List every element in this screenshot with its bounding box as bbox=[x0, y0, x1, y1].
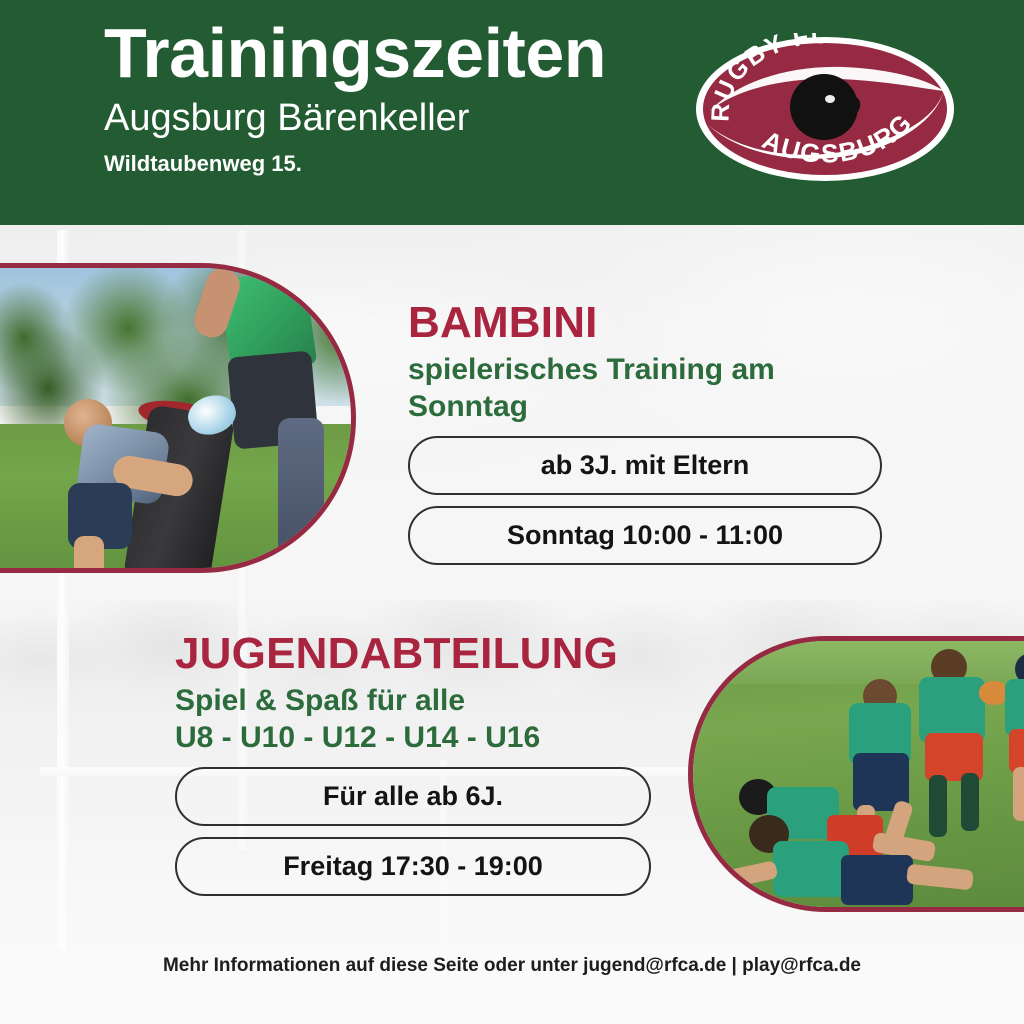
jugend-subtitle: Spiel & Spaß für alle bbox=[175, 682, 651, 719]
page-title: Trainingszeiten bbox=[104, 18, 606, 89]
bambini-heading: BAMBINI bbox=[408, 300, 882, 347]
poster: Trainingszeiten Augsburg Bärenkeller Wil… bbox=[0, 0, 1024, 1024]
jugend-photo bbox=[688, 636, 1024, 912]
section-bambini: BAMBINI spielerisches Training am Sonnta… bbox=[408, 300, 882, 565]
jugend-age-groups: U8 - U10 - U12 - U14 - U16 bbox=[175, 719, 651, 756]
coach-leg bbox=[278, 418, 324, 568]
bambini-photo bbox=[0, 263, 356, 573]
jugend-age-pill[interactable]: Für alle ab 6J. bbox=[175, 767, 651, 826]
club-logo: RUGBY FC AUGSBURG bbox=[694, 33, 956, 185]
venue-address: Wildtaubenweg 15. bbox=[104, 151, 606, 177]
bambini-time-pill[interactable]: Sonntag 10:00 - 11:00 bbox=[408, 506, 882, 565]
jugend-time-pill[interactable]: Freitag 17:30 - 19:00 bbox=[175, 837, 651, 896]
section-jugend: JUGENDABTEILUNG Spiel & Spaß für alle U8… bbox=[175, 631, 651, 896]
header-text-group: Trainingszeiten Augsburg Bärenkeller Wil… bbox=[104, 18, 606, 177]
jugend-photo-scene bbox=[693, 641, 1024, 907]
header-banner: Trainingszeiten Augsburg Bärenkeller Wil… bbox=[0, 0, 1024, 225]
bambini-age-pill[interactable]: ab 3J. mit Eltern bbox=[408, 436, 882, 495]
footer-contact: Mehr Informationen auf diese Seite oder … bbox=[0, 955, 1024, 977]
bambini-subtitle: spielerisches Training am Sonntag bbox=[408, 351, 882, 425]
jugend-heading: JUGENDABTEILUNG bbox=[175, 631, 651, 678]
page-subtitle: Augsburg Bärenkeller bbox=[104, 95, 606, 143]
bambini-photo-scene bbox=[0, 268, 351, 568]
child-leg bbox=[74, 536, 104, 573]
